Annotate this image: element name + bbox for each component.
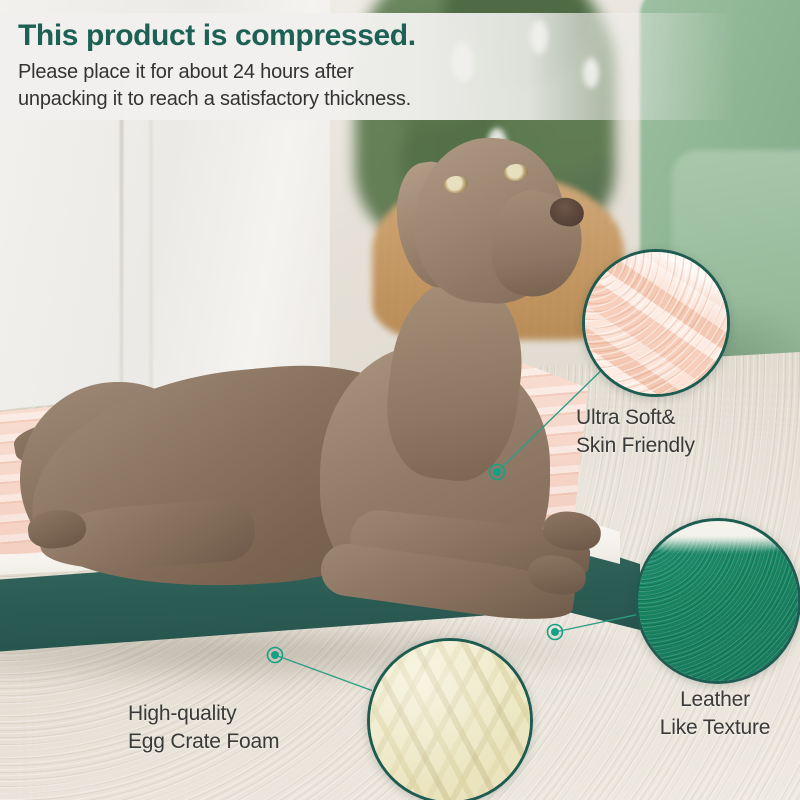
- callout-label-line2: Like Texture: [615, 714, 800, 742]
- callout-label-line1: Ultra Soft&: [576, 404, 776, 432]
- callout-circle-leather: [635, 518, 800, 684]
- dog: [20, 120, 600, 630]
- leather-texture: [638, 521, 798, 681]
- compression-notice-banner: This product is compressed. Please place…: [0, 13, 800, 120]
- banner-subtitle: Please place it for about 24 hours after…: [18, 59, 411, 113]
- callout-circle-egg-crate-foam: [367, 638, 533, 800]
- callout-label-line2: Egg Crate Foam: [128, 728, 358, 756]
- banner-subtitle-line1: Please place it for about 24 hours after: [18, 59, 411, 86]
- plush-fabric-texture: [585, 252, 727, 394]
- callout-label-line1: High-quality: [128, 700, 358, 728]
- banner-title: This product is compressed.: [18, 19, 416, 53]
- callout-label-line2: Skin Friendly: [576, 432, 776, 460]
- callout-label-leather: Leather Like Texture: [615, 686, 800, 742]
- product-marketing-image: Ultra Soft& Skin Friendly Leather Like T…: [0, 0, 800, 800]
- banner-subtitle-line2: unpacking it to reach a satisfactory thi…: [18, 86, 411, 113]
- callout-label-line1: Leather: [615, 686, 800, 714]
- egg-crate-foam-texture: [370, 641, 530, 800]
- callout-label-ultra-soft: Ultra Soft& Skin Friendly: [576, 404, 776, 460]
- callout-label-egg-crate-foam: High-quality Egg Crate Foam: [128, 700, 358, 756]
- callout-circle-ultra-soft: [582, 249, 730, 397]
